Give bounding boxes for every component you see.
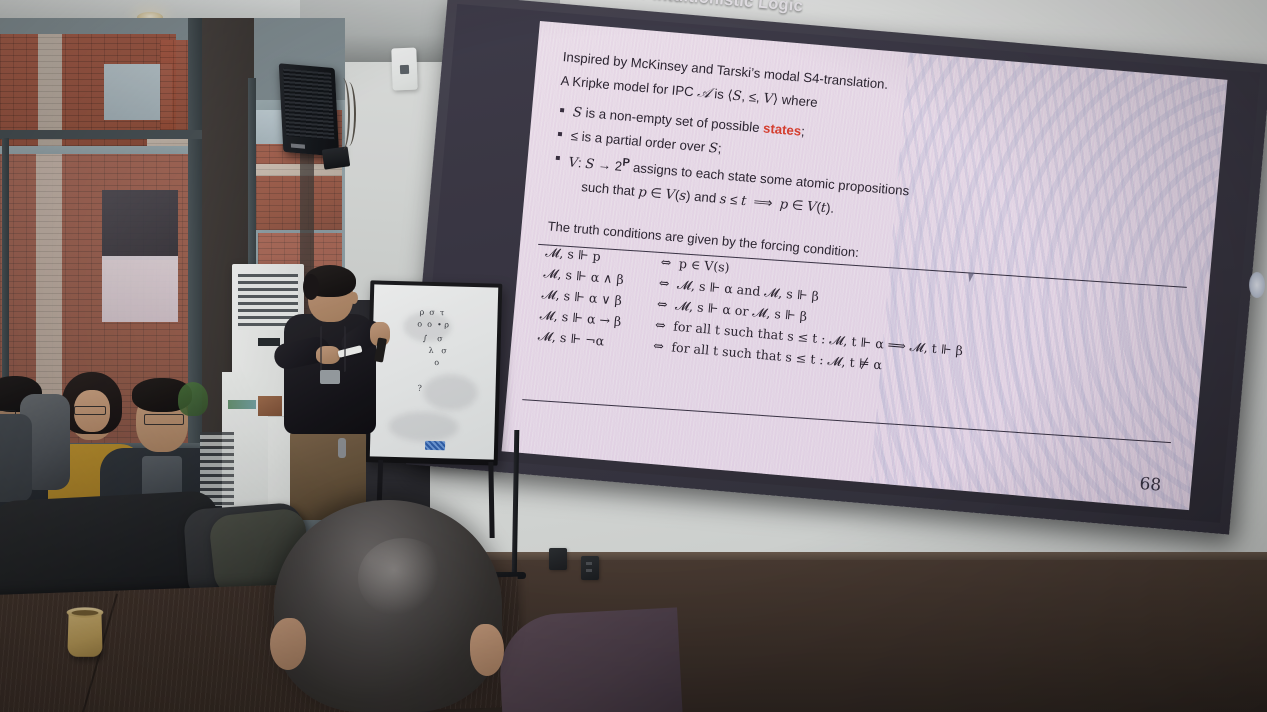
presenter-hair-side xyxy=(303,274,319,300)
projection-screen: 北京大学 LOGIC Kripke semantics for Intuitio… xyxy=(404,0,1267,563)
speaker-cable xyxy=(338,82,356,146)
pa-speaker xyxy=(279,63,340,156)
presenter-lanyard xyxy=(320,326,346,372)
paper-cup[interactable] xyxy=(67,611,102,657)
presenter xyxy=(276,270,392,520)
whiteboard-mark: ο ο • ρ xyxy=(417,320,449,330)
slide-truth-table: 𝓜, s ⊩ p ⇔ p ∈ V(s) 𝓜, s ⊩ α ∧ β ⇔ 𝓜, s … xyxy=(537,244,1188,404)
screen-reflection xyxy=(102,256,178,322)
presenter-ear xyxy=(350,292,358,304)
truth-rhs: p ∈ V(s) xyxy=(678,256,730,275)
truth-arrow: ⇔ xyxy=(645,337,672,354)
highlight-states: states xyxy=(763,120,802,138)
screen-bezel: 北京大学 LOGIC Kripke semantics for Intuitio… xyxy=(406,0,1267,535)
chair-back xyxy=(0,414,32,502)
screen-edge-glint xyxy=(1249,272,1265,298)
cup-opening xyxy=(71,610,98,616)
sensor-lens-icon xyxy=(400,65,409,74)
wall-outlet-plate[interactable] xyxy=(581,556,599,580)
attendee-glasses xyxy=(144,414,184,425)
plant-pot xyxy=(258,396,282,416)
screen-dark-panel: 北京大学 LOGIC Kripke semantics for Intuitio… xyxy=(417,4,1260,523)
truth-arrow: ⇔ xyxy=(647,316,674,333)
truth-lhs: 𝓜, s ⊩ ¬α xyxy=(537,328,646,353)
attendee-glasses xyxy=(74,406,106,415)
presenter-keychain xyxy=(338,438,346,458)
potted-plant xyxy=(178,382,208,416)
lecture-room-photo: 北京大学 LOGIC Kripke semantics for Intuitio… xyxy=(0,0,1267,712)
truth-arrow: ⇔ xyxy=(649,295,676,312)
slide-page-number: 68 xyxy=(1139,474,1162,496)
speaker-logo xyxy=(291,143,305,148)
whiteboard-mark: λ σ xyxy=(428,346,446,355)
cabinet-sticker xyxy=(228,400,256,409)
slide-surface: Inspired by McKinsey and Tarski’s modal … xyxy=(502,21,1228,510)
speaker-grille xyxy=(283,69,334,141)
truth-arrow: ⇔ xyxy=(651,274,678,291)
attendee-foreground xyxy=(274,500,502,712)
whiteboard-mark: ∫ σ xyxy=(423,334,443,344)
whiteboard-eraser[interactable] xyxy=(425,441,445,451)
window-reflection-panel xyxy=(102,190,178,260)
mouse-cursor-icon[interactable] xyxy=(968,272,975,282)
wall-switch-plate[interactable] xyxy=(549,548,567,570)
hair-whorl xyxy=(358,538,448,618)
foreground-ear xyxy=(270,618,306,670)
whiteboard-mark: ρ σ τ xyxy=(419,308,444,318)
presenter-badge xyxy=(320,370,340,384)
whiteboard-mark: ? xyxy=(417,384,422,393)
truth-arrow: ⇔ xyxy=(652,254,679,271)
slide-rule-bottom xyxy=(522,399,1171,443)
brick-pilaster xyxy=(38,34,62,164)
whiteboard-mark: ο xyxy=(434,358,439,367)
wireless-access-point-icon xyxy=(391,48,417,91)
slide-body: Inspired by McKinsey and Tarski’s modal … xyxy=(550,47,1207,251)
foreground-ear xyxy=(470,624,504,676)
